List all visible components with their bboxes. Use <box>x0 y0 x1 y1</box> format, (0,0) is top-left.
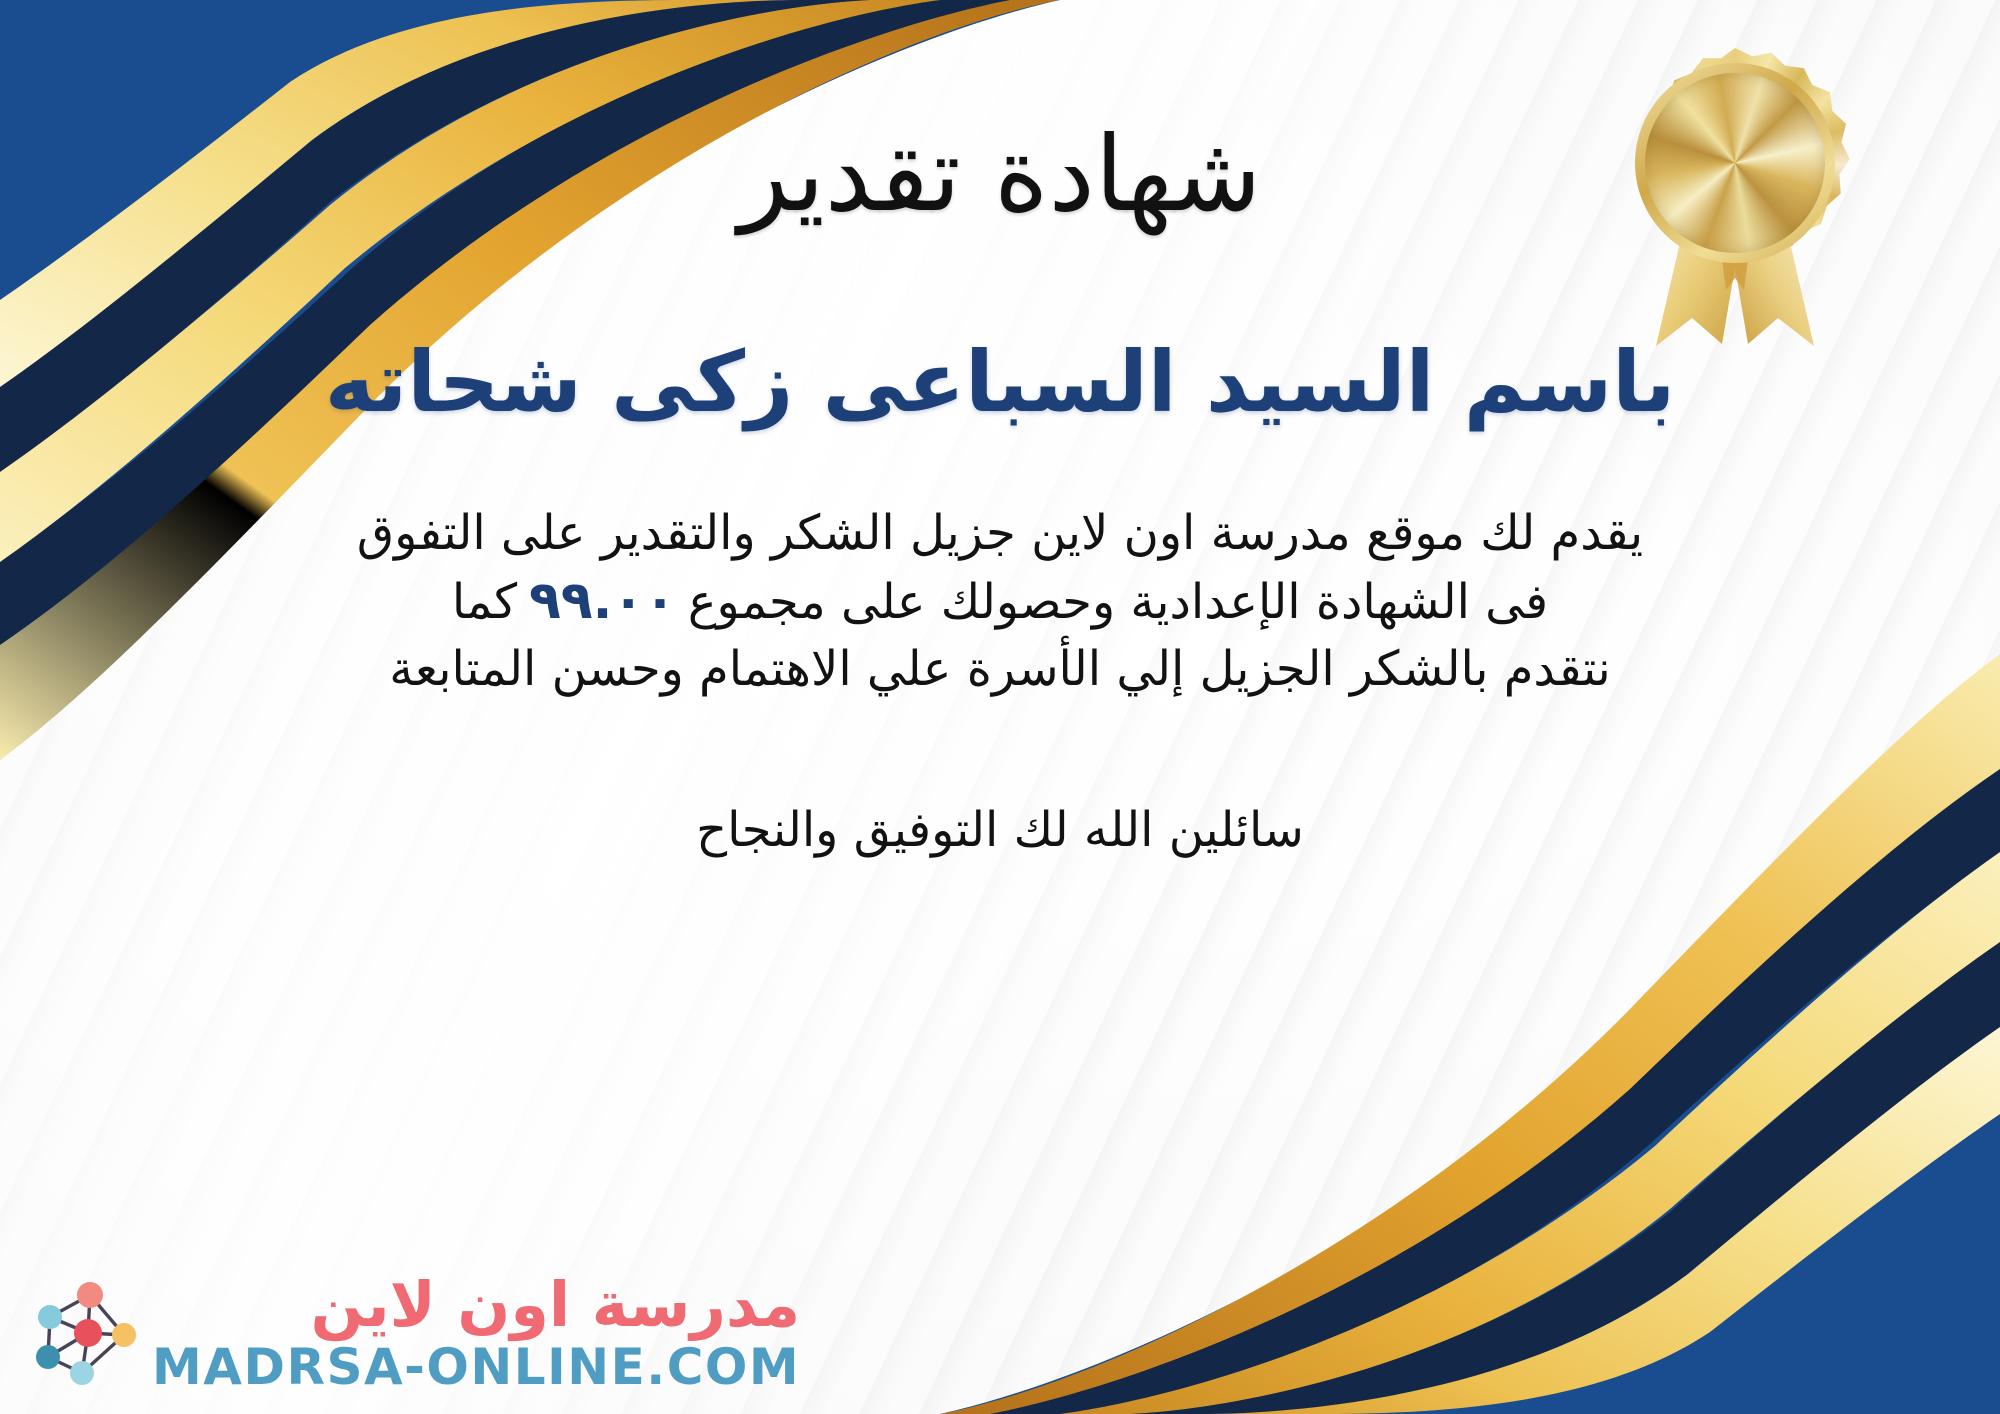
body-line-2-prefix: فى الشهادة الإعدادية وحصولك على مجموع <box>688 570 1548 635</box>
brand-logo[interactable]: مدرسة اون لاين MADRSA-ONLINE.COM <box>28 1274 800 1392</box>
certificate-canvas: شهادة تقدير باسم السيد السباعى زكى شحاته… <box>0 0 2000 1414</box>
grade-total-value: ٩٩.٠٠ <box>517 566 688 637</box>
certificate-body: يقدم لك موقع مدرسة اون لاين جزيل الشكر و… <box>140 501 1860 864</box>
network-graph-logo-icon <box>28 1277 136 1389</box>
brand-website-url[interactable]: MADRSA-ONLINE.COM <box>152 1342 800 1392</box>
certificate-title: شهادة تقدير <box>738 118 1261 230</box>
recipient-name: باسم السيد السباعى زكى شحاته <box>325 336 1676 428</box>
body-line-3: نتقدم بالشكر الجزيل إلي الأسرة علي الاهت… <box>140 637 1860 702</box>
body-line-2: فى الشهادة الإعدادية وحصولك على مجموع ٩٩… <box>140 566 1860 637</box>
closing-line: سائلين الله لك التوفيق والنجاح <box>140 798 1860 863</box>
certificate-content: شهادة تقدير باسم السيد السباعى زكى شحاته… <box>0 0 2000 1414</box>
brand-wordmark: مدرسة اون لاين MADRSA-ONLINE.COM <box>152 1274 800 1392</box>
brand-name-arabic: مدرسة اون لاين <box>311 1274 801 1336</box>
body-line-1: يقدم لك موقع مدرسة اون لاين جزيل الشكر و… <box>140 501 1860 566</box>
body-line-2-suffix: كما <box>452 570 517 635</box>
